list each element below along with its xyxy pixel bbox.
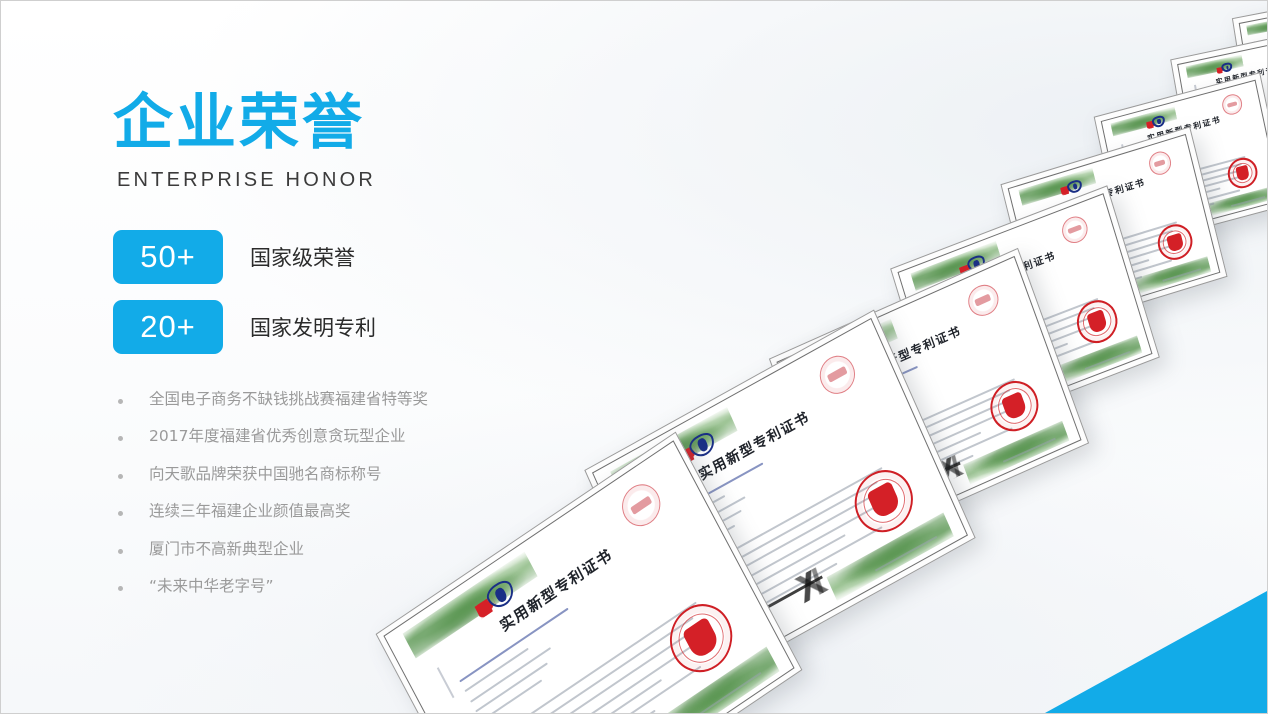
text-line [1049,240,1087,253]
page-title: 企业荣誉 [113,93,543,153]
text-line [1131,150,1165,161]
text-line [849,389,1011,462]
emblem-dots-shape [959,263,973,276]
text-line [1264,62,1268,79]
floral-ornament-icon [827,513,954,601]
certificate-card: 实用新型专利证书 [1000,126,1227,334]
text-line [668,496,746,541]
certificate-card: 实用新型专利证书 [584,310,975,699]
text-line [1061,275,1142,302]
emblem-arch-shape [1151,115,1166,129]
text-line [1210,128,1268,145]
text-line [1261,53,1268,61]
text-line [841,416,892,440]
certificate-body-lines [1206,100,1268,160]
text-line [1138,163,1242,193]
signature-rule [1143,200,1205,219]
text-line [960,321,1102,377]
certificate-serial-mark [928,300,936,321]
text-line [1140,174,1247,204]
text-line [1056,243,1179,282]
text-line [1206,101,1268,123]
official-red-seal-icon [658,591,744,686]
emblem-dots-shape [1060,185,1072,196]
bullet-dot-icon [118,436,123,441]
certificate-footer-code [1162,268,1201,282]
text-line [1136,155,1245,186]
emblem-dots-shape [1216,66,1225,73]
text-line [705,526,882,626]
certificate-body: 实用新型专利证书 [776,256,1081,546]
official-red-seal-icon [984,373,1046,439]
certificate-body-lines [1051,220,1193,307]
text-line [1263,64,1268,71]
bullet-dot-icon [118,399,123,404]
text-line [684,467,882,578]
text-line [967,362,1061,400]
list-item: 全国电子商务不缺钱挑战赛福建省特等奖 [113,390,543,409]
text-line [1262,59,1268,67]
text-line [522,710,655,714]
certificate-title: 实用新型专利证书 [1207,61,1268,88]
signature-mark [1107,269,1142,294]
emblem-arch-shape [1066,178,1083,195]
text-line [947,315,998,336]
text-line [1263,57,1268,75]
text-line [693,495,874,597]
text-line [838,404,898,432]
emblem-arch-shape [966,254,987,275]
list-item-label: 向天歌品牌荣获中国驰名商标称号 [149,465,382,484]
text-line [1046,223,1096,240]
text-line [852,401,1007,471]
text-line [1207,107,1268,128]
corner-accent-triangle [1045,591,1267,713]
small-stamp-icon [615,477,667,535]
text-line [512,679,662,714]
small-stamp-icon [1146,149,1173,177]
certificate-footer-code [697,672,761,714]
signature-mark [926,449,976,488]
list-item: 连续三年福建企业颜值最高奖 [113,502,543,521]
text-line [465,648,530,693]
certificate-card: 实用新型专利证书 [890,185,1160,440]
text-line [832,390,885,415]
text-line [701,534,846,615]
list-item-label: 全国电子商务不缺钱挑战赛福建省特等奖 [149,390,428,409]
text-line [835,393,901,424]
emblem-arch-shape [687,429,718,461]
certificate-body: 实用新型专利证书 [1101,80,1268,243]
signature-rule [711,575,823,639]
text-line [1133,161,1172,173]
small-stamp-icon [964,280,1002,321]
text-line [470,647,551,703]
certificate-footer-code [1231,196,1265,207]
floral-ornament-icon [1134,256,1212,294]
certificate-field-lines [659,446,813,567]
text-line [517,665,701,714]
text-line [829,366,918,407]
text-line [475,662,548,712]
certificate-card: 实用新型专利证书 [1232,0,1268,123]
text-line [1132,154,1175,167]
certificate-body-lines [1136,154,1258,227]
certificate-card: 实用新型专利证书 [1170,28,1268,177]
page-subtitle: ENTERPRISE HONOR [117,169,543,192]
certificate-serial-mark [639,506,653,535]
national-emblem-icon [1216,61,1235,74]
certificate-serial-mark [1194,85,1198,99]
honor-list: 全国电子商务不缺钱挑战赛福建省特等奖2017年度福建省优秀创意贪玩型企业向天歌品… [113,390,543,596]
small-stamp-icon [1221,93,1244,117]
certificate-title: 实用新型专利证书 [1265,22,1268,45]
stat-label: 国家发明专利 [250,312,376,342]
certificate-title: 实用新型专利证书 [1049,171,1161,217]
certificate-body-lines [846,375,1042,511]
certificate-body-lines [684,462,919,642]
stats-group: 50+国家级荣誉20+国家发明专利 [113,230,543,354]
content-column: 企业荣誉 ENTERPRISE HONOR 50+国家级荣誉20+国家发明专利 … [113,93,543,614]
certificate-serial-mark [1032,214,1038,232]
floral-ornament-icon [610,407,737,495]
text-line [846,378,1015,455]
text-line [953,297,1099,355]
certificate-card: 实用新型专利证书 [769,248,1089,554]
text-line [858,432,981,488]
emblem-dots-shape [1146,120,1156,129]
certificate-body-lines [953,295,1120,405]
stat-badge-value: 50+ [113,230,223,284]
signature-mark [597,707,662,714]
signature-rule [865,462,961,507]
text-line [957,317,1090,370]
floral-ornament-icon [1207,186,1268,216]
text-line [1130,138,1188,155]
text-line [496,617,693,714]
signature-rule [1061,276,1132,300]
slide-canvas: 实用新型专利证书实用新型专利证书实用新型专利证书实用新型专利证书实用新型专利证书… [0,0,1268,714]
text-line [861,427,1012,496]
text-line [1211,130,1268,150]
list-item: 向天歌品牌荣获中国驰名商标称号 [113,465,543,484]
certificate-field-lines [940,274,1049,349]
text-line [1044,219,1083,233]
stat-row: 50+国家级荣誉 [113,230,543,284]
floral-ornament-icon [963,420,1070,484]
national-emblem-icon [1145,114,1167,130]
text-line [1212,141,1268,156]
official-red-seal-icon [1225,155,1260,192]
list-item: 2017年度福建省优秀创意贪玩型企业 [113,427,543,446]
certificate-serial-mark [814,392,824,416]
text-line [1058,259,1150,289]
certificate-card: 实用新型专利证书 [1094,72,1268,250]
text-line [1042,204,1108,226]
bullet-dot-icon [118,511,123,516]
text-line [1051,222,1177,262]
certificate-footer-code [1085,350,1130,369]
certificate-serial-mark [1121,144,1126,160]
floral-ornament-icon [1019,168,1097,206]
text-line [663,495,725,531]
text-line [491,602,697,714]
floral-ornament-icon [645,646,779,714]
text-line [1053,230,1173,269]
list-item-label: 厦门市不高新典型企业 [149,540,304,559]
signature-rule [966,366,1048,400]
text-line [1203,97,1240,107]
text-line [1141,188,1221,211]
certificate-title: 实用新型专利证书 [835,311,987,392]
text-line [1205,110,1233,118]
text-line [676,525,735,559]
emblem-arch-shape [1221,62,1233,74]
text-line [506,634,708,714]
text-line [955,307,1094,362]
text-line [672,510,742,550]
certificate-footer-code [875,536,937,572]
text-line [501,633,690,714]
text-line [1201,83,1251,96]
certificate-title: 实用新型专利证书 [946,239,1077,302]
triangle-shape [1045,591,1267,713]
certificate-serial-mark [1253,42,1256,54]
national-emblem-icon [846,334,883,364]
text-line [1202,93,1232,101]
text-line [1144,202,1215,223]
text-line [688,481,878,588]
signature-mark [782,559,842,610]
text-line [1259,41,1268,51]
emblem-dots-shape [848,346,865,362]
signature-mark [1184,195,1214,215]
floral-ornament-icon [791,318,898,382]
emblem-arch-shape [856,335,881,360]
signature-mark [1246,133,1268,150]
text-line [964,341,1094,393]
text-line [940,283,1017,314]
floral-ornament-icon [1185,55,1243,78]
floral-ornament-icon [1246,16,1268,35]
text-line [697,498,891,607]
text-line [949,325,993,343]
certificate-field-lines [1042,199,1135,258]
text-line [1143,189,1241,217]
text-line [1135,169,1168,180]
certificate-body: 实用新型专利证书 [1177,35,1268,170]
signature-rule [1211,137,1265,151]
text-line [709,562,837,634]
text-line [945,305,1002,329]
stat-row: 20+国家发明专利 [113,300,543,354]
floral-ornament-icon [910,241,1001,291]
text-line [659,462,764,521]
bullet-dot-icon [118,474,123,479]
national-emblem-icon [675,428,720,467]
text-line [855,404,1020,479]
stat-label: 国家级荣誉 [250,242,355,272]
text-line [480,679,542,714]
certificate-title: 实用新型专利证书 [1136,111,1233,147]
list-item: 厦门市不高新典型企业 [113,540,543,559]
official-red-seal-icon [1154,220,1196,264]
official-red-seal-icon [1072,294,1123,348]
text-line [1208,113,1268,133]
signature-mark [1020,356,1062,388]
certificate-title: 实用新型专利证书 [664,388,844,502]
certificate-body: 实用新型专利证书 [592,318,968,690]
official-red-seal-icon [846,459,923,543]
stat-badge-value: 20+ [113,300,223,354]
text-line [1047,231,1091,246]
certificate-field-lines [1259,38,1268,74]
certificate-field-lines [1201,80,1268,121]
text-line [1260,49,1268,56]
certificate-body: 实用新型专利证书 [897,193,1152,433]
text-line [1060,259,1173,295]
floral-ornament-icon [1051,336,1142,386]
national-emblem-icon [957,253,988,277]
national-emblem-icon [1059,178,1085,197]
certificate-body-lines [1263,56,1268,108]
text-line [943,302,989,321]
text-line [1055,238,1170,275]
certificate-field-lines [1130,134,1210,184]
certificate-body: 实用新型专利证书 [1239,0,1268,116]
list-item: “未来中华老字号” [113,577,543,596]
text-line [1204,103,1238,112]
bullet-dot-icon [118,549,123,554]
text-line [1139,170,1239,199]
bullet-dot-icon [118,586,123,591]
small-stamp-icon [1059,213,1091,247]
floral-ornament-icon [1110,106,1177,136]
certificate-body: 实用新型专利证书 [1008,134,1221,327]
text-line [864,454,973,504]
text-line [459,608,568,683]
small-stamp-icon [814,349,861,400]
emblem-dots-shape [678,444,699,465]
list-item-label: “未来中华老字号” [149,577,274,596]
certificate-field-lines [829,355,957,447]
list-item-label: 2017年度福建省优秀创意贪玩型企业 [149,427,405,446]
certificate-footer-code [1003,438,1056,463]
certificate-serial-mark [437,668,454,698]
list-item-label: 连续三年福建企业颜值最高奖 [149,502,351,521]
text-line [962,342,1068,384]
text-line [1209,118,1268,140]
